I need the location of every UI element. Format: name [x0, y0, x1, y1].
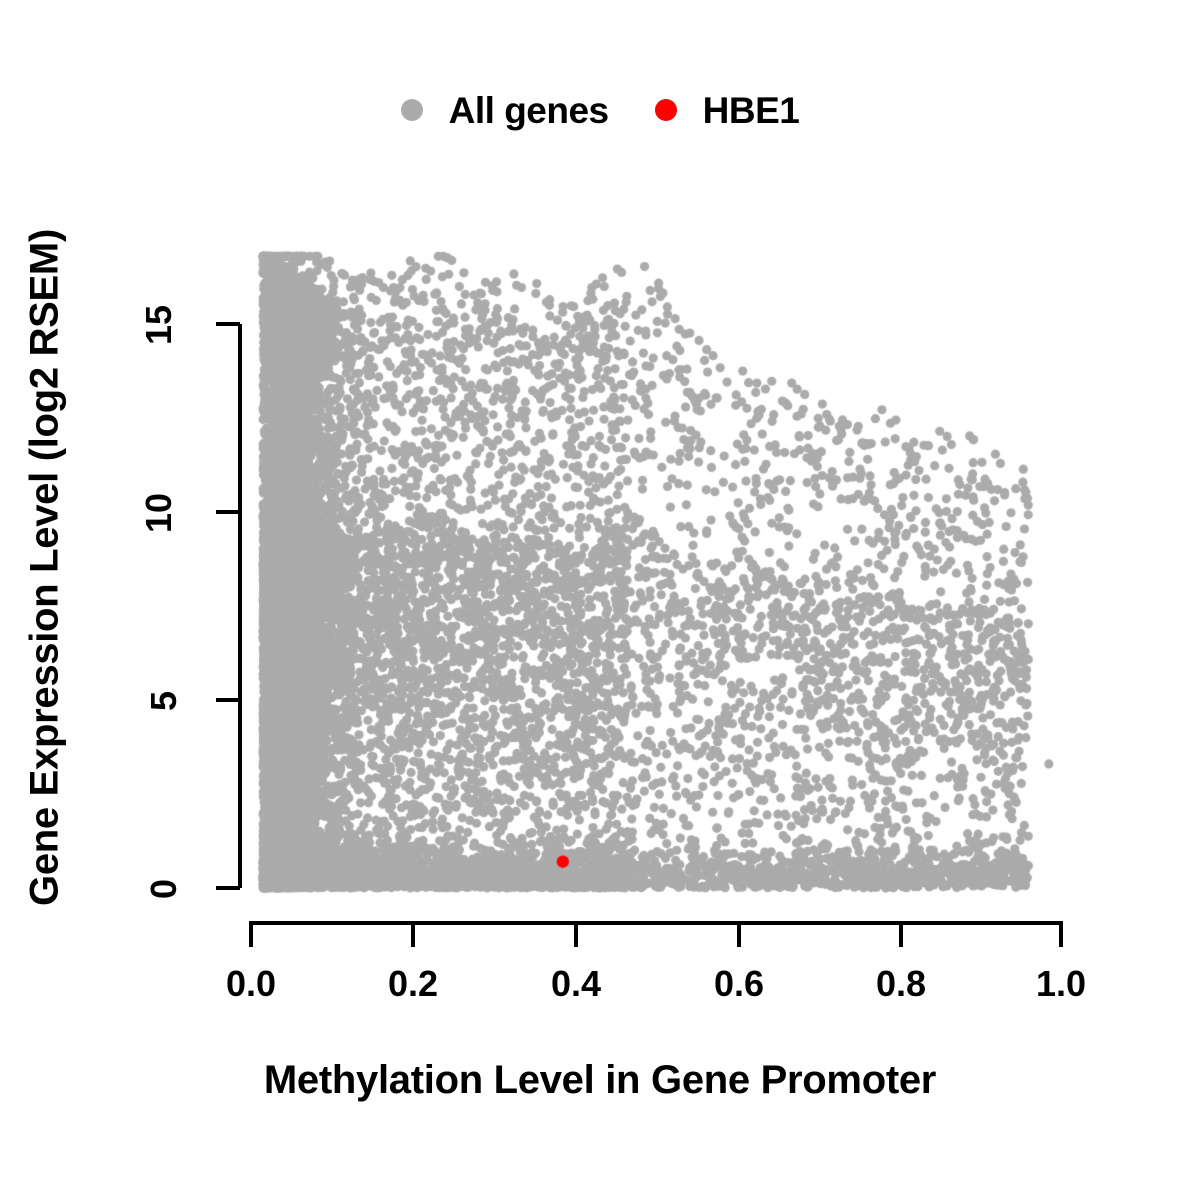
y-tick-label-3: 15: [138, 305, 180, 345]
x-axis-title: Methylation Level in Gene Promoter: [0, 1058, 1200, 1103]
x-tick-label-4: 0.8: [876, 963, 926, 1005]
y-tick-label-2: 10: [138, 493, 180, 533]
y-tick-label-1: 5: [143, 691, 185, 711]
x-tick-label-1: 0.2: [388, 963, 438, 1005]
y-axis-title-wrapper: Gene Expression Level (log2 RSEM): [23, 0, 68, 1143]
scatter-points-layer: [0, 0, 1200, 1200]
scatter-plot-figure: All genes HBE1 0.0 0.2 0.4: [0, 0, 1200, 1200]
x-tick-label-2: 0.4: [551, 963, 601, 1005]
x-tick-label-0: 0.0: [226, 963, 276, 1005]
y-tick-label-0: 0: [143, 879, 185, 899]
x-tick-label-3: 0.6: [714, 963, 764, 1005]
x-tick-label-5: 1.0: [1036, 963, 1086, 1005]
y-axis-title: Gene Expression Level (log2 RSEM): [23, 229, 67, 906]
plot-area: 0.0 0.2 0.4 0.6 0.8 1.0 0 5 10 15 Methyl…: [0, 0, 1200, 1200]
